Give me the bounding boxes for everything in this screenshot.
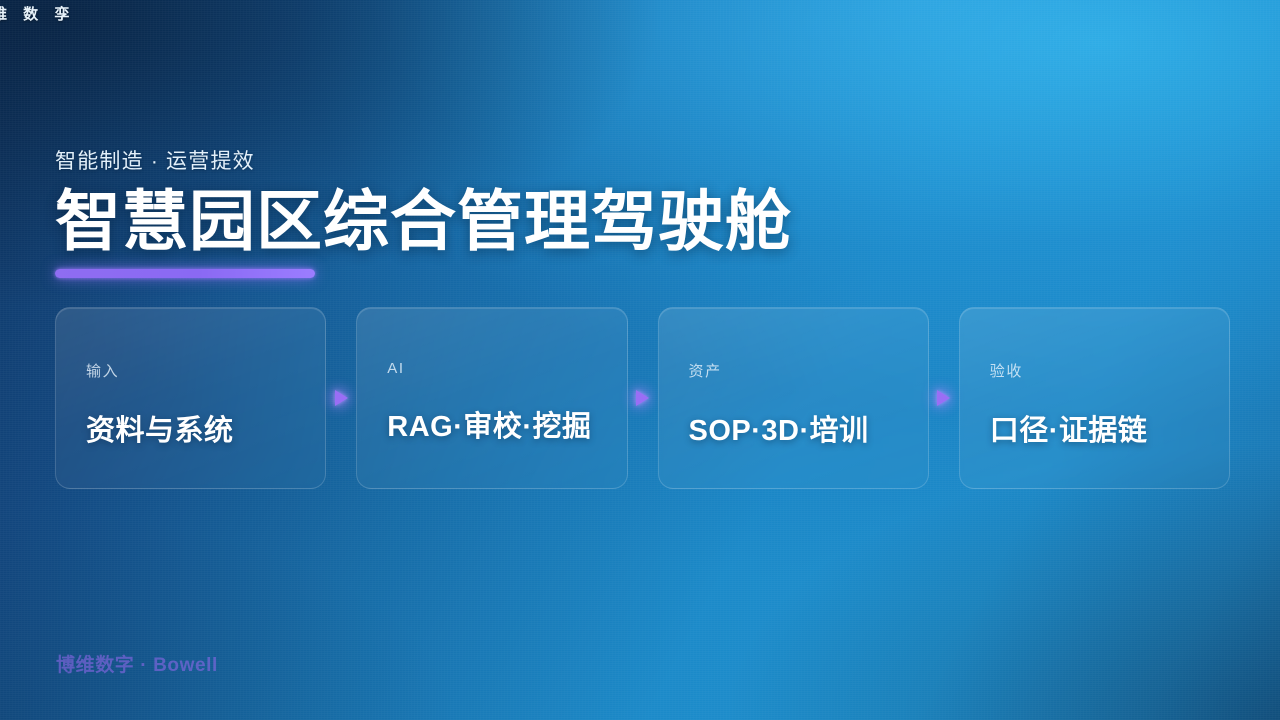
pipeline-card-input[interactable]: 输入 资料与系统 xyxy=(55,307,326,489)
slide-eyebrow: 智能制造 · 运营提效 xyxy=(55,145,792,175)
pipeline-connector-2 xyxy=(628,307,658,489)
top-watermark: 维 数 孪 xyxy=(0,3,75,24)
arrow-right-icon xyxy=(335,390,348,406)
pipeline-card-asset[interactable]: 资产 SOP·3D·培训 xyxy=(658,307,929,489)
pipeline-flow: 输入 资料与系统 AI RAG·审校·挖掘 资产 SOP·3D·培训 验收 口径… xyxy=(55,307,1230,489)
pipeline-card-ai[interactable]: AI RAG·审校·挖掘 xyxy=(356,307,627,489)
arrow-right-icon xyxy=(636,390,649,406)
pipeline-card-title: RAG·审校·挖掘 xyxy=(387,403,626,445)
headline-block: 智能制造 · 运营提效 智慧园区综合管理驾驶舱 xyxy=(55,145,792,278)
pipeline-card-title: 资料与系统 xyxy=(86,407,325,449)
arrow-right-icon xyxy=(937,390,950,406)
pipeline-card-label: 资产 xyxy=(689,360,928,381)
pipeline-connector-3 xyxy=(929,307,959,489)
pipeline-connector-1 xyxy=(326,307,356,489)
pipeline-card-label: 输入 xyxy=(86,360,325,381)
footer-watermark: 博维数字 · Bowell xyxy=(56,650,218,677)
pipeline-card-acceptance[interactable]: 验收 口径·证据链 xyxy=(959,307,1230,489)
presentation-slide: 维 数 孪 智能制造 · 运营提效 智慧园区综合管理驾驶舱 输入 资料与系统 A… xyxy=(0,0,1280,720)
pipeline-card-title: SOP·3D·培训 xyxy=(689,407,928,449)
pipeline-card-title: 口径·证据链 xyxy=(990,407,1229,449)
pipeline-card-label: AI xyxy=(387,360,626,377)
page-title: 智慧园区综合管理驾驶舱 xyxy=(55,187,792,256)
pipeline-card-label: 验收 xyxy=(990,360,1229,381)
title-accent-bar xyxy=(55,269,315,278)
